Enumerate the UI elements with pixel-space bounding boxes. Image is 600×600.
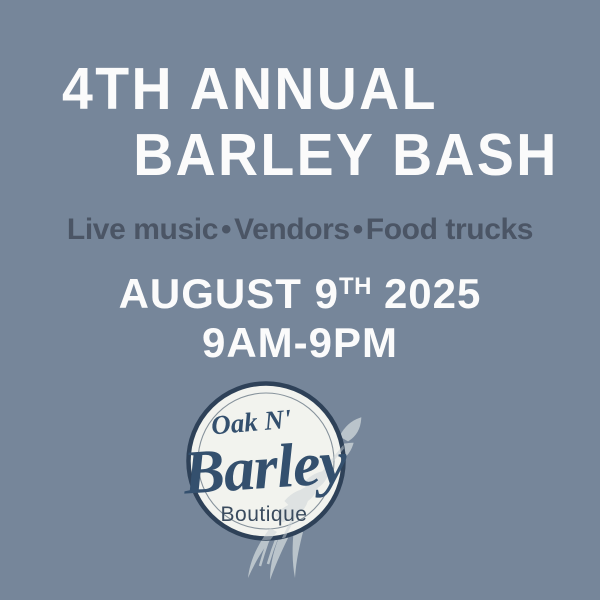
logo-subtitle: Boutique	[221, 503, 308, 526]
tagline: Live music•Vendors•Food trucks	[0, 212, 600, 248]
event-poster: 4TH ANNUAL BARLEY BASH Live music•Vendor…	[0, 0, 600, 600]
tagline-item-live-music: Live music	[67, 213, 218, 246]
event-time: 9AM-9PM	[0, 318, 600, 368]
tagline-separator-1: •	[218, 212, 234, 248]
brand-logo: Oak N' Barley Boutique	[178, 378, 428, 583]
event-date-year: 2025	[384, 270, 481, 317]
tagline-item-food-trucks: Food trucks	[366, 213, 533, 246]
tagline-item-vendors: Vendors	[234, 213, 350, 246]
event-date: AUGUST 9TH2025	[0, 262, 600, 319]
brand-logo-svg: Oak N' Barley Boutique	[178, 378, 428, 583]
event-date-ordinal-suffix: TH	[339, 273, 372, 300]
logo-script-main: Barley	[180, 428, 350, 507]
tagline-separator-2: •	[350, 212, 366, 248]
headline-line-2: BARLEY BASH	[36, 122, 600, 188]
headline-line-1: 4TH ANNUAL	[0, 56, 564, 122]
event-date-month-day: AUGUST 9	[119, 270, 339, 317]
headline-block: 4TH ANNUAL BARLEY BASH	[0, 56, 600, 188]
